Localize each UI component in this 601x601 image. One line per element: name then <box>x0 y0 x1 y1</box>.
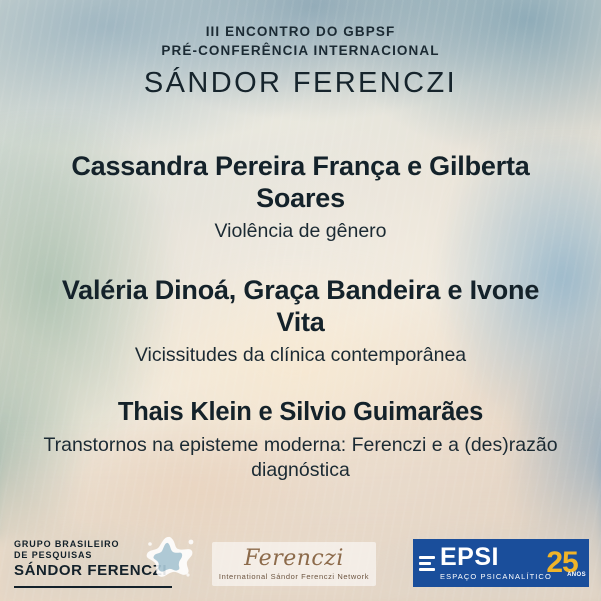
logo-epsi: EPSI ESPAÇO PSICANALÍTICO 25 ANOS <box>413 539 589 587</box>
logo-gbpsf: GRUPO BRASILEIRO DE PESQUISAS SÁNDOR FER… <box>14 539 194 585</box>
epsi-tagline: ESPAÇO PSICANALÍTICO <box>440 573 552 581</box>
logo-ferenczi-network: Ferenczi International Sándor Ferenczi N… <box>212 542 376 586</box>
ink-splash-icon <box>144 535 196 579</box>
epsi-wordmark: EPSI ESPAÇO PSICANALÍTICO <box>440 545 552 581</box>
ferenczi-network-label: International Sándor Ferenczi Network <box>212 572 376 582</box>
session-topic: Transtornos na episteme moderna: Ferencz… <box>0 433 601 483</box>
session-topic: Violência de gênero <box>0 219 601 244</box>
session-speakers: Thais Klein e Silvio Guimarães <box>0 396 601 428</box>
session-item: Thais Klein e Silvio Guimarães Transtorn… <box>0 396 601 483</box>
event-subtitle-line: PRÉ-CONFERÊNCIA INTERNACIONAL <box>0 41 601 60</box>
event-poster: III ENCONTRO DO GBPSF PRÉ-CONFERÊNCIA IN… <box>0 0 601 601</box>
epsi-anniversary-badge: 25 ANOS <box>539 540 585 586</box>
epsi-bars-icon <box>419 556 435 571</box>
session-item: Valéria Dinoá, Graça Bandeira e Ivone Vi… <box>0 274 601 368</box>
epsi-name: EPSI <box>440 545 552 570</box>
session-item: Cassandra Pereira França e Gilberta Soar… <box>0 150 601 244</box>
page-title: SÁNDOR FERENCZI <box>0 67 601 100</box>
event-edition-line: III ENCONTRO DO GBPSF <box>0 22 601 41</box>
session-speakers: Cassandra Pereira França e Gilberta Soar… <box>0 150 601 214</box>
session-list: Cassandra Pereira França e Gilberta Soar… <box>0 150 601 483</box>
poster-footer: GRUPO BRASILEIRO DE PESQUISAS SÁNDOR FER… <box>0 531 601 601</box>
epsi-anniversary-label: ANOS <box>567 572 586 579</box>
session-speakers: Valéria Dinoá, Graça Bandeira e Ivone Vi… <box>0 274 601 338</box>
session-topic: Vicissitudes da clínica contemporânea <box>0 343 601 368</box>
poster-header: III ENCONTRO DO GBPSF PRÉ-CONFERÊNCIA IN… <box>0 22 601 100</box>
ferenczi-script-wordmark: Ferenczi <box>212 546 376 572</box>
gbpsf-underline <box>14 586 172 588</box>
